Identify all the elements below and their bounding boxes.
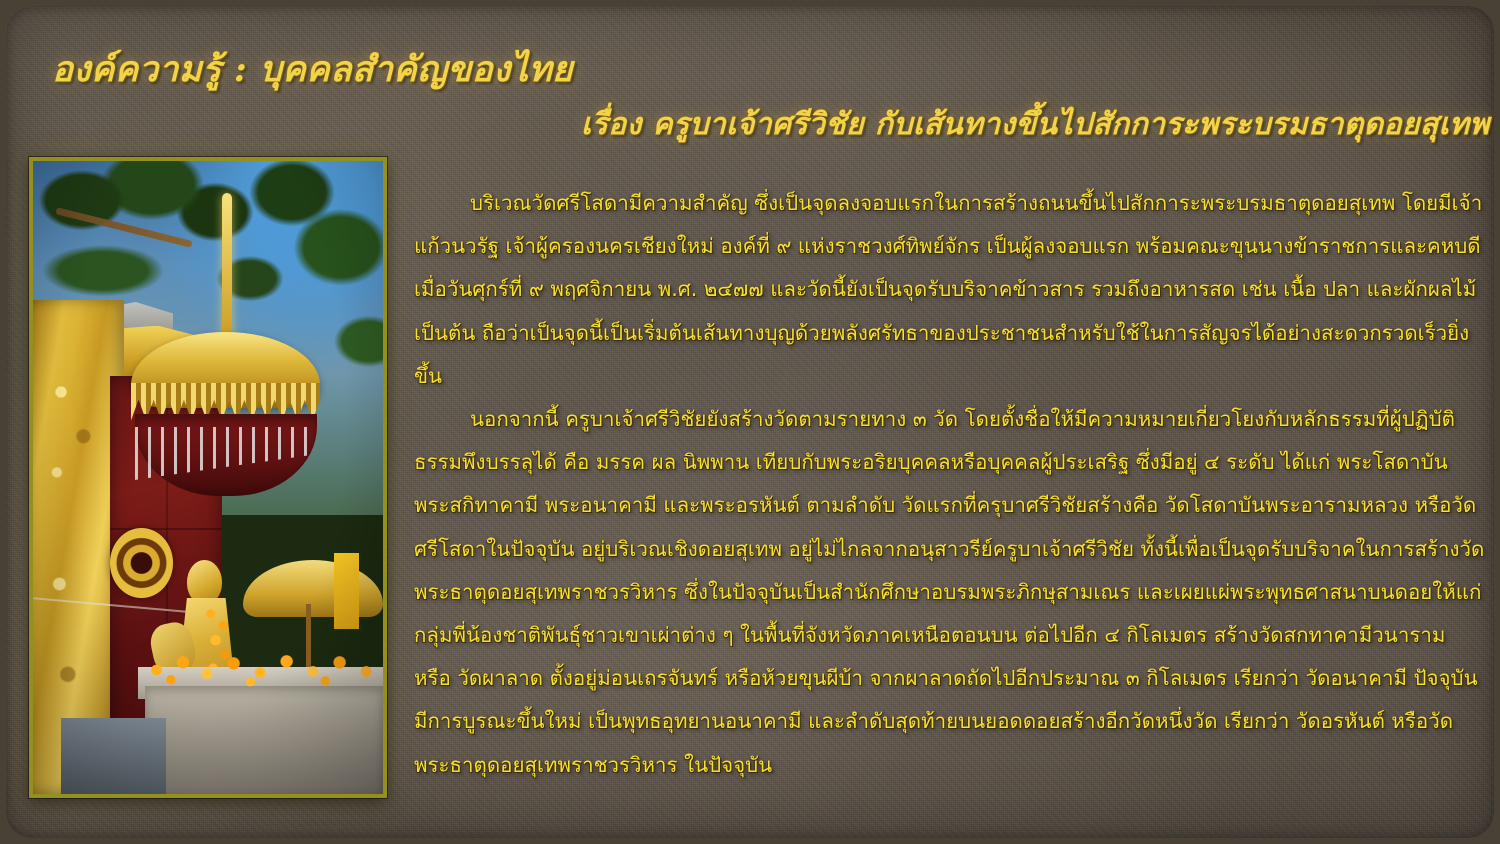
page-title: องค์ความรู้ : บุคคลสำคัญของไทย [52, 42, 573, 97]
photo-vignette [33, 161, 383, 794]
page-subtitle: เรื่อง ครูบาเจ้าศรีวิชัย กับเส้นทางขึ้นไ… [581, 101, 1490, 148]
photo-canvas [33, 161, 383, 794]
shrine-photograph: รูปถ่ายศาลาทองและรูปเหมือนครูบาเจ้าศรีวิ… [29, 157, 387, 798]
paragraph-2: นอกจากนี้ ครูบาเจ้าศรีวิชัยยังสร้างวัดตา… [414, 398, 1486, 787]
paragraph-1: บริเวณวัดศรีโสดามีความสำคัญ ซึ่งเป็นจุดล… [414, 182, 1486, 398]
poster-root: องค์ความรู้ : บุคคลสำคัญของไทย เรื่อง คร… [0, 0, 1500, 844]
article-body: บริเวณวัดศรีโสดามีความสำคัญ ซึ่งเป็นจุดล… [414, 182, 1486, 787]
textured-background-panel: องค์ความรู้ : บุคคลสำคัญของไทย เรื่อง คร… [6, 6, 1494, 838]
